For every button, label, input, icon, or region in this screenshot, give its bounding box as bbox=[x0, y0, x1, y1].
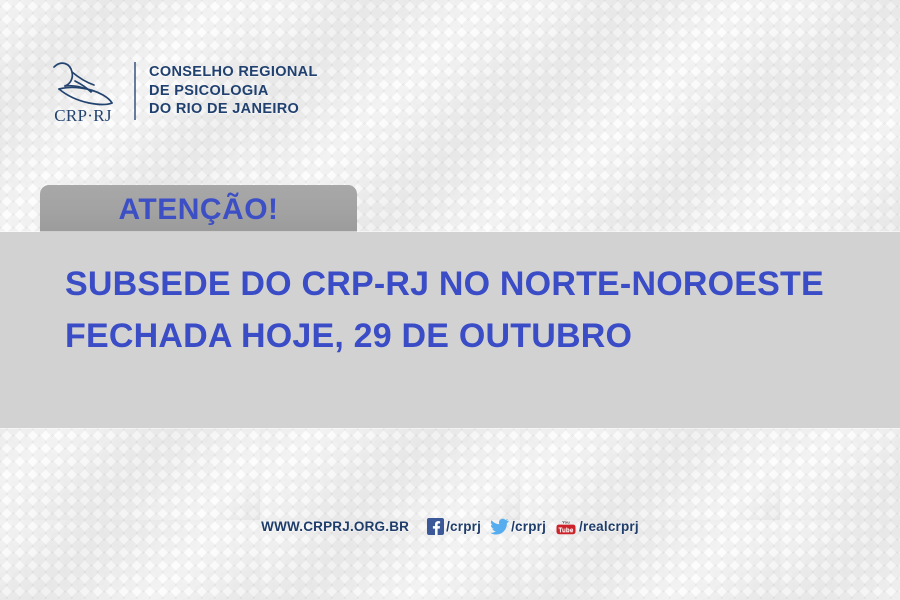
crp-rj-logo: CRP·RJ Conselho Regional de Psicologia d… bbox=[45, 55, 318, 127]
crp-rj-bird-logo-icon: CRP·RJ bbox=[45, 55, 121, 127]
logo-divider bbox=[134, 62, 136, 120]
organization-name-line-1: Conselho Regional bbox=[149, 63, 318, 82]
facebook-icon bbox=[427, 518, 444, 535]
facebook-link[interactable]: /crprj bbox=[427, 518, 481, 535]
facebook-handle: /crprj bbox=[446, 519, 481, 534]
youtube-link[interactable]: You Tube /realcrprj bbox=[555, 519, 639, 535]
attention-banner-label: ATENÇÃO! bbox=[118, 193, 278, 227]
headline: SUBSEDE DO CRP-RJ NO NORTE-NOROESTE FECH… bbox=[65, 258, 875, 362]
footer: WWW.CRPRJ.ORG.BR /crprj /crprj You Tube … bbox=[0, 518, 900, 535]
website-url[interactable]: WWW.CRPRJ.ORG.BR bbox=[261, 519, 409, 534]
youtube-handle: /realcrprj bbox=[579, 519, 639, 534]
twitter-link[interactable]: /crprj bbox=[490, 518, 546, 535]
svg-text:Tube: Tube bbox=[558, 527, 573, 534]
organization-name-line-2: de Psicologia bbox=[149, 82, 318, 101]
svg-text:CRP·RJ: CRP·RJ bbox=[54, 106, 112, 125]
attention-banner: ATENÇÃO! bbox=[40, 185, 357, 235]
svg-text:You: You bbox=[562, 519, 570, 524]
organization-name-line-3: do Rio de Janeiro bbox=[149, 100, 318, 119]
youtube-icon: You Tube bbox=[555, 519, 577, 535]
organization-name: Conselho Regional de Psicologia do Rio d… bbox=[149, 63, 318, 119]
poster-canvas: CRP·RJ Conselho Regional de Psicologia d… bbox=[0, 0, 900, 600]
twitter-handle: /crprj bbox=[511, 519, 546, 534]
headline-line-1: SUBSEDE DO CRP-RJ NO NORTE-NOROESTE bbox=[65, 258, 875, 310]
twitter-icon bbox=[490, 518, 509, 535]
headline-line-2: FECHADA HOJE, 29 DE OUTUBRO bbox=[65, 310, 875, 362]
